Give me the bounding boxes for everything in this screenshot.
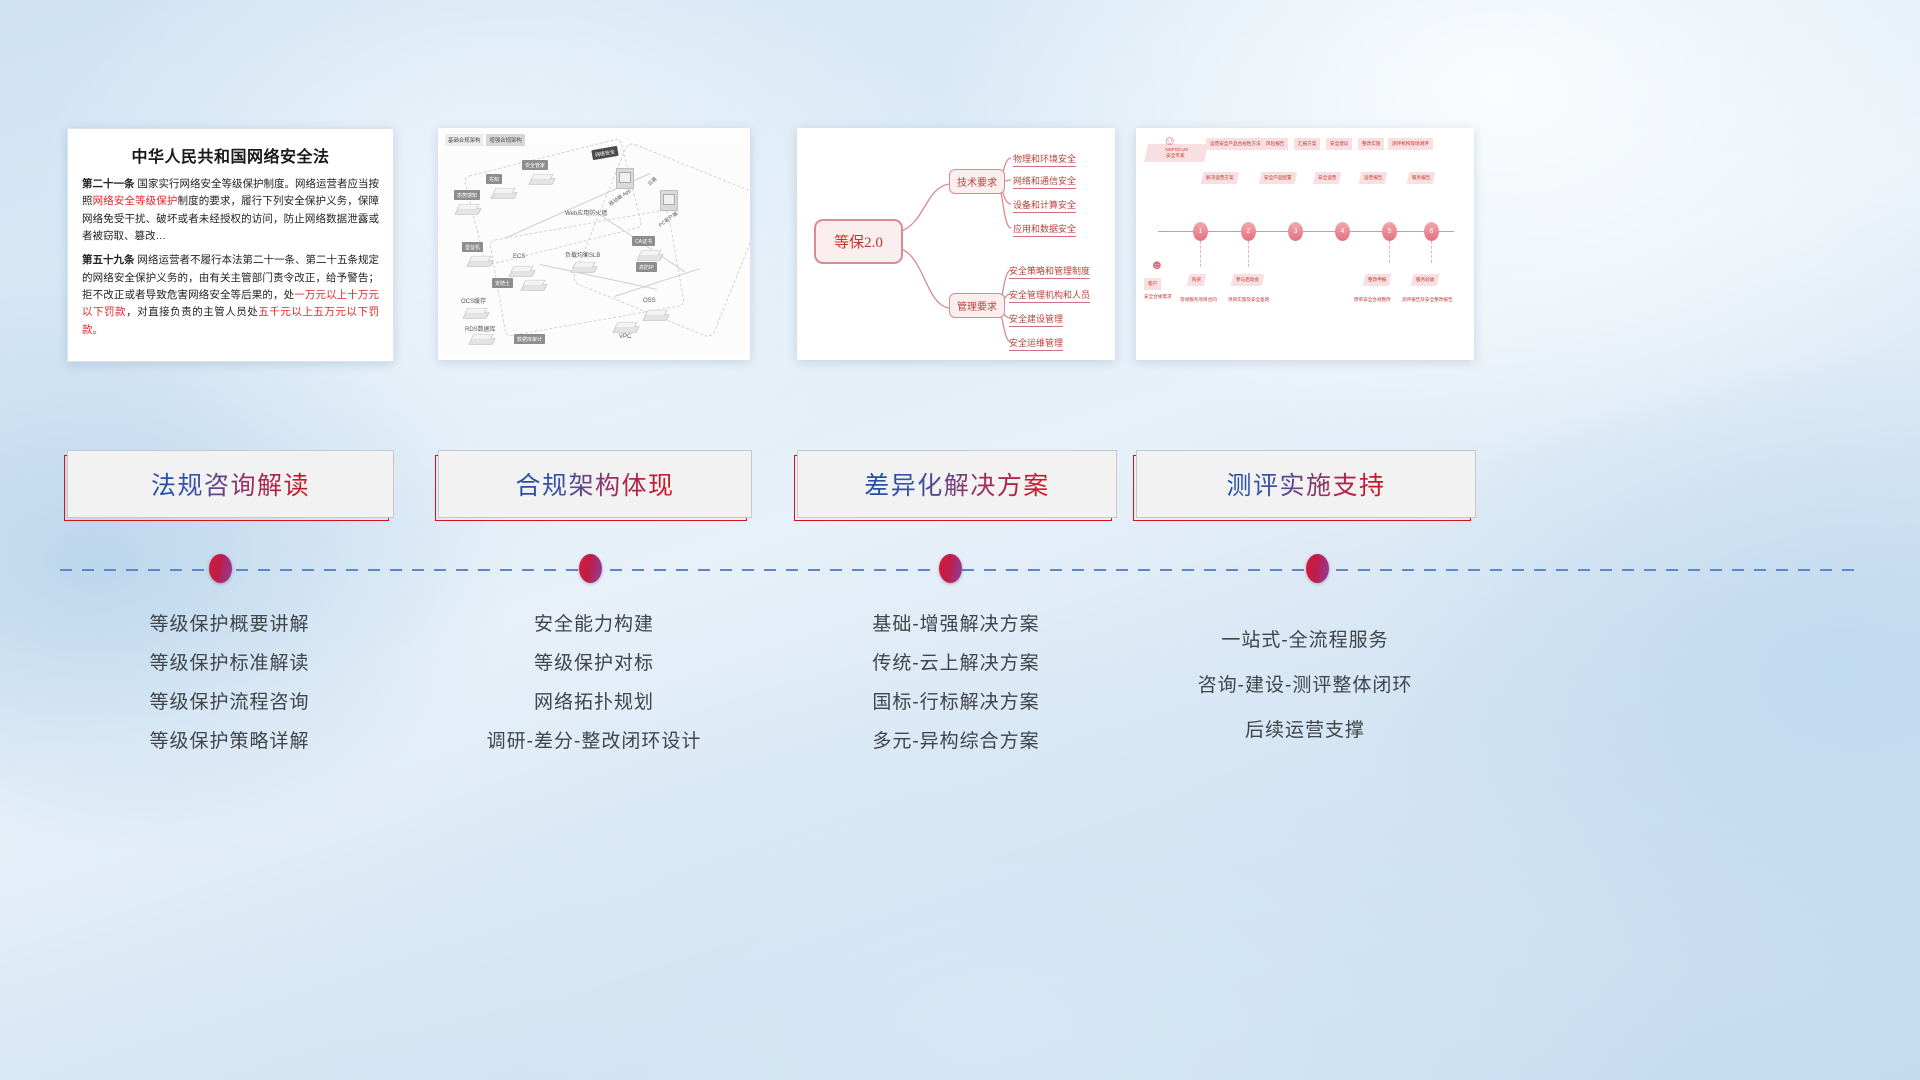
mindmap-leaf-tech-1: 物理和环境安全	[1013, 152, 1076, 167]
pillar-label-4[interactable]: 测评实施支持	[1136, 450, 1476, 518]
pillar-label-2-text: 合规架构体现	[515, 466, 674, 502]
bottom-tag-4-sub: 测评报告及安全整改报告	[1398, 294, 1457, 306]
pillar-label-3[interactable]: 差异化解决方案	[797, 450, 1117, 518]
pillar-label-2[interactable]: 合规架构体现	[438, 450, 752, 518]
cube-vpc	[614, 320, 636, 333]
bottom-tag-2: 参与启动会	[1231, 274, 1265, 286]
law-article-label-1: 第二十一条	[82, 178, 135, 190]
top-tag-3: 汇报方案	[1294, 138, 1320, 150]
card-architecture-diagram: 基础合规架构 增强合规架构 态势感知 先知 安全管家	[438, 128, 750, 360]
architecture-tabs: 基础合规架构 增强合规架构	[445, 134, 525, 146]
node-security-butler: 安全管家	[522, 160, 548, 170]
cube-ocs-cache	[464, 306, 486, 319]
slide-canvas: 中华人民共和国网络安全法 第二十一条 国家实行网络安全等级保护制度。网络运营者应…	[0, 0, 1920, 1080]
mindmap-leaf-tech-4: 应用和数据安全	[1013, 222, 1076, 237]
step-5: 5	[1382, 222, 1397, 241]
customer-sub: 安全合规需求	[1140, 291, 1176, 303]
node-xianzhi: 先知	[486, 174, 502, 184]
node-waf: Web应用防火墙	[562, 206, 610, 218]
mindmap-canvas: 等保2.0 技术要求 物理和环境安全 网络和通信安全 设备和计算安全 应用和数据…	[797, 128, 1115, 360]
bottom-tag-3-label: 整改申报	[1368, 277, 1386, 283]
bottom-tag-4-label: 服务验收	[1416, 277, 1434, 283]
step-6: 6	[1424, 222, 1439, 241]
mindmap-leaf-tech-3: 设备和计算安全	[1013, 198, 1076, 213]
timeline-dot-4[interactable]	[1306, 554, 1329, 583]
top-tag-6: 测评机构现场测评	[1388, 138, 1433, 150]
bottom-tag-1-label: 购买	[1192, 277, 1201, 283]
node-anqishi: 安骑士	[492, 278, 513, 288]
mid-tag-5: 服务报告	[1407, 172, 1436, 184]
pillar-2-item-4: 调研-差分-整改闭环设计	[438, 722, 750, 761]
mid-tag-1-label: 解决运营方案	[1206, 175, 1234, 181]
pillar-label-1[interactable]: 法规咨询解读	[67, 450, 394, 518]
mindmap-root: 等保2.0	[814, 219, 903, 264]
mid-tag-2-label: 安全产品配置	[1264, 175, 1292, 181]
timeline-dot-1[interactable]	[209, 554, 232, 583]
law-document: 中华人民共和国网络安全法 第二十一条 国家实行网络安全等级保护制度。网络运营者应…	[68, 129, 393, 361]
cube-rds	[470, 332, 492, 345]
law-article-label-2: 第五十九条	[82, 254, 135, 266]
pillar-1-item-3: 等级保护流程咨询	[67, 683, 392, 722]
bottom-tag-4: 服务验收	[1411, 274, 1440, 286]
mid-tag-3-label: 安全运营	[1318, 175, 1336, 181]
tab-enhanced-arch[interactable]: 增强合规架构	[486, 134, 524, 146]
law-highlight-1: 网络安全等级保护	[93, 195, 178, 207]
cube-ecs	[510, 264, 532, 277]
step-drop-2	[1248, 241, 1250, 267]
mid-tag-3: 安全运营	[1313, 172, 1342, 184]
node-anti-ddos-ip: 高防IP	[636, 262, 657, 272]
pillar-list-1: 等级保护概要讲解 等级保护标准解读 等级保护流程咨询 等级保护策略详解	[67, 605, 392, 761]
card-mindmap: 等保2.0 技术要求 物理和环境安全 网络和通信安全 设备和计算安全 应用和数据…	[797, 128, 1115, 360]
pillar-2-item-2: 等级保护对标	[438, 644, 750, 683]
pillar-1-item-1: 等级保护概要讲解	[67, 605, 392, 644]
timeline-dot-3[interactable]	[939, 554, 962, 583]
bottom-tag-2-label: 参与启动会	[1236, 277, 1259, 283]
mid-tag-5-label: 服务报告	[1412, 175, 1430, 181]
bottom-tag-2-sub: 项目实施及安全差距	[1224, 294, 1273, 306]
customer-person-icon: ☻	[1150, 258, 1164, 271]
expert-person-icon: ☺	[1163, 134, 1176, 147]
mindmap-leaf-mgmt-3: 安全建设管理	[1009, 312, 1063, 327]
pillar-label-1-text: 法规咨询解读	[151, 466, 310, 502]
mid-tag-4: 运营报告	[1359, 172, 1388, 184]
mindmap-branch-technical: 技术要求	[949, 169, 1005, 194]
customer-label: 客户	[1148, 281, 1157, 286]
step-1: 1	[1193, 222, 1208, 241]
pillar-4-item-2: 咨询-建设-测评整体闭环	[1136, 663, 1474, 708]
node-ca-cert: CA证书	[632, 236, 655, 246]
step-drop-1	[1200, 241, 1202, 267]
mindmap-leaf-mgmt-4: 安全运维管理	[1009, 336, 1063, 351]
process-canvas: NSFOCUS 安全专家 ☺ 运营安全产品合规性方法 风险报告 汇报方案 安全建…	[1136, 128, 1474, 360]
tab-basic-arch[interactable]: 基础合规架构	[445, 134, 483, 146]
mindmap-leaf-mgmt-1: 安全策略和管理制度	[1009, 264, 1090, 279]
law-text-2b: ，对直接负责的主管人员处	[126, 306, 258, 318]
step-drop-6	[1431, 241, 1433, 263]
pillar-list-3: 基础-增强解决方案 传统-云上解决方案 国标-行标解决方案 多元-异构综合方案	[797, 605, 1115, 761]
node-db-audit: 数据库审计	[514, 334, 545, 344]
timeline-dot-2[interactable]	[579, 554, 602, 583]
expert-role: 安全专家	[1149, 153, 1201, 159]
cube-xianzhi	[492, 186, 514, 199]
cube-slb	[572, 260, 594, 273]
node-situational-awareness: 态势感知	[454, 190, 480, 200]
mindmap-branch-management: 管理要求	[949, 293, 1005, 318]
pillar-2-item-1: 安全能力构建	[438, 605, 750, 644]
step-2: 2	[1241, 222, 1256, 241]
top-tag-2: 风险报告	[1262, 138, 1288, 150]
architecture-canvas: 基础合规架构 增强合规架构 态势感知 先知 安全管家	[438, 128, 750, 360]
pillar-3-item-1: 基础-增强解决方案	[797, 605, 1115, 644]
pillar-4-item-3: 后续运营支撑	[1136, 708, 1474, 753]
node-bastion-host: 堡垒机	[462, 242, 483, 252]
pillar-3-item-2: 传统-云上解决方案	[797, 644, 1115, 683]
bottom-tag-1-sub: 等保服务项目合同	[1176, 294, 1221, 306]
bottom-tag-3-sub: 原审安全合规整改	[1350, 294, 1395, 306]
pillar-4-item-1: 一站式-全流程服务	[1136, 618, 1474, 663]
law-paragraph-2: 第五十九条 网络运营者不履行本法第二十一条、第二十五条规定的网络安全保护义务的，…	[82, 252, 379, 339]
law-paragraph-1: 第二十一条 国家实行网络安全等级保护制度。网络运营者应当按照网络安全等级保护制度…	[82, 176, 379, 245]
pillar-3-item-3: 国标-行标解决方案	[797, 683, 1115, 722]
cube-security-butler	[530, 172, 552, 185]
law-title: 中华人民共和国网络安全法	[82, 143, 379, 167]
pillar-list-2: 安全能力构建 等级保护对标 网络拓扑规划 调研-差分-整改闭环设计	[438, 605, 750, 761]
mindmap-leaf-mgmt-2: 安全管理机构和人员	[1009, 288, 1090, 303]
node-ecs: ECS	[510, 252, 528, 261]
pillar-list-4: 一站式-全流程服务 咨询-建设-测评整体闭环 后续运营支撑	[1136, 618, 1474, 753]
cube-bastion-host	[468, 254, 490, 267]
customer-badge: 客户	[1144, 278, 1161, 290]
pillar-label-3-text: 差异化解决方案	[864, 466, 1050, 502]
mid-tag-2: 安全产品配置	[1259, 172, 1297, 184]
node-slb: 负载均衡SLB	[562, 248, 603, 260]
card-process-graphic: NSFOCUS 安全专家 ☺ 运营安全产品合规性方法 风险报告 汇报方案 安全建…	[1136, 128, 1474, 360]
mid-tag-4-label: 运营报告	[1364, 175, 1382, 181]
pillar-label-4-text: 测评实施支持	[1226, 466, 1385, 502]
top-tag-1: 运营安全产品合规性方法	[1206, 138, 1265, 150]
bottom-tag-3: 整改申报	[1363, 274, 1392, 286]
top-tag-5: 整改实施	[1358, 138, 1384, 150]
cube-oss	[644, 308, 666, 321]
cube-ca-cert	[638, 248, 660, 261]
top-tag-4: 安全建议	[1326, 138, 1352, 150]
step-3: 3	[1288, 222, 1303, 241]
pillar-2-item-3: 网络拓扑规划	[438, 683, 750, 722]
pillar-1-item-2: 等级保护标准解读	[67, 644, 392, 683]
mid-tag-1: 解决运营方案	[1201, 172, 1239, 184]
pillar-3-item-4: 多元-异构综合方案	[797, 722, 1115, 761]
step-drop-5	[1389, 241, 1391, 263]
step-4: 4	[1335, 222, 1350, 241]
bottom-tag-1: 购买	[1187, 274, 1207, 286]
architecture-nodes: 态势感知 先知 安全管家 网络安全 堡垒机 ECS 安骑士 OCS缓存 RDS数…	[444, 146, 744, 354]
node-ocs-cache: OCS缓存	[458, 294, 489, 306]
cube-situational-awareness	[456, 202, 478, 215]
cube-anqishi	[522, 278, 544, 291]
node-oss: OSS	[640, 296, 659, 305]
node-vpc: VPC	[616, 332, 634, 341]
pillar-1-item-4: 等级保护策略详解	[67, 722, 392, 761]
card-law-text: 中华人民共和国网络安全法 第二十一条 国家实行网络安全等级保护制度。网络运营者应…	[67, 128, 394, 362]
mindmap-leaf-tech-2: 网络和通信安全	[1013, 174, 1076, 189]
